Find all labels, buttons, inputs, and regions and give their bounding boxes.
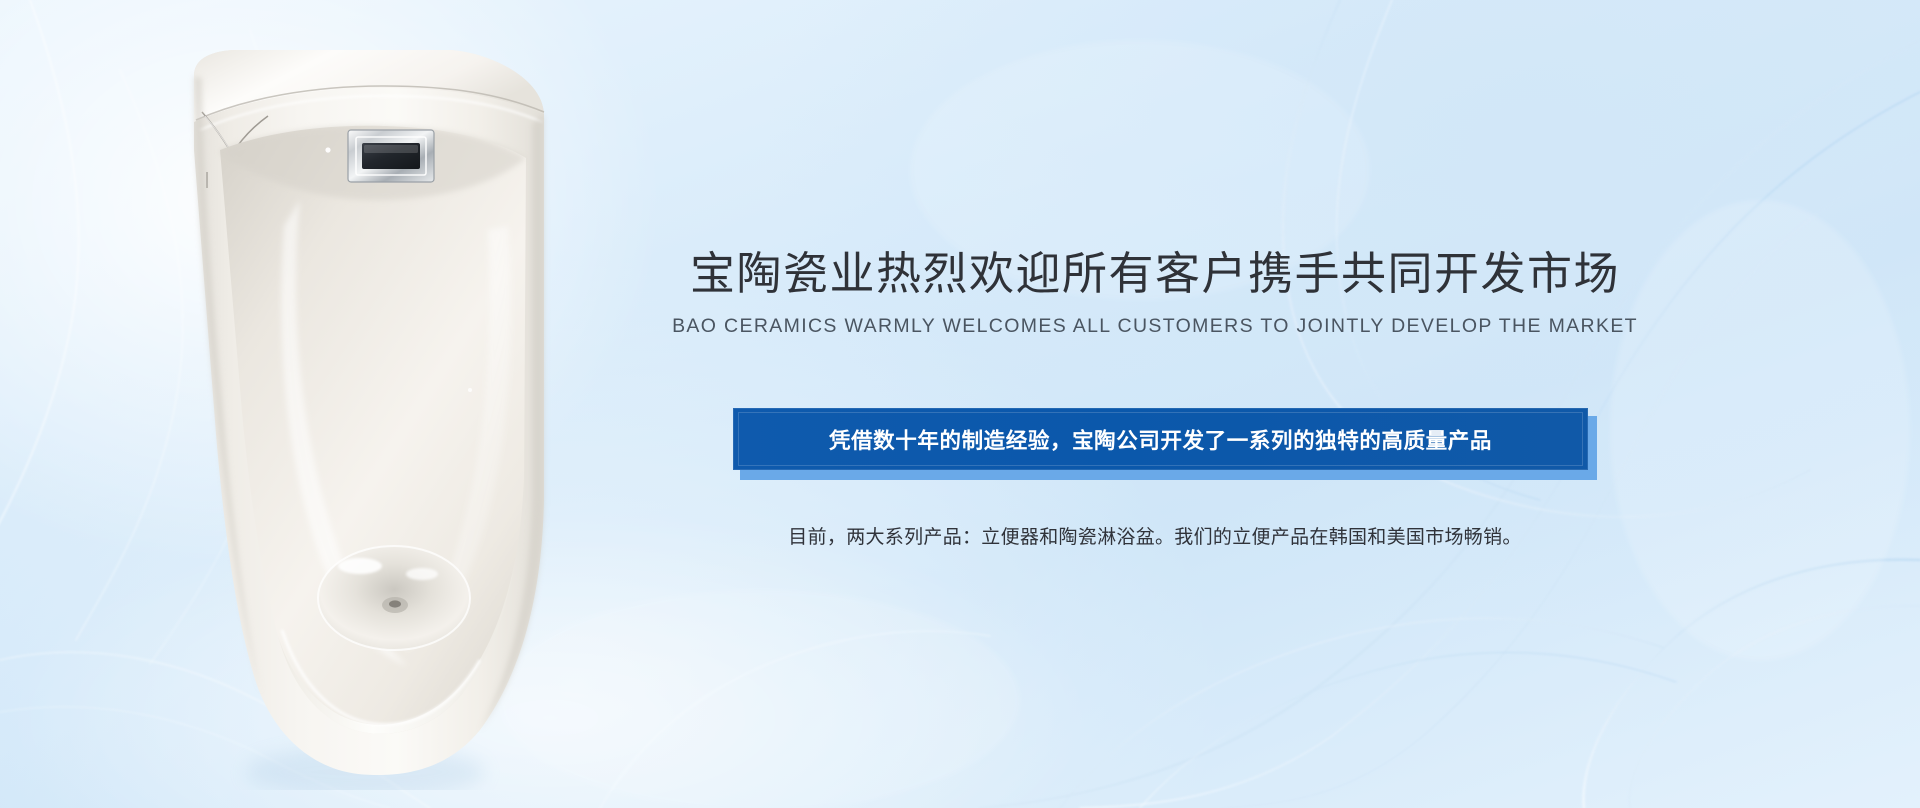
page-subtitle: BAO CERAMICS WARMLY WELCOMES ALL CUSTOME… (600, 315, 1710, 338)
hero-banner: 宝陶瓷业热烈欢迎所有客户携手共同开发市场 BAO CERAMICS WARMLY… (0, 0, 1920, 808)
chrome-sensor-icon (348, 130, 434, 182)
drain-grate-icon (382, 597, 408, 613)
highlight-banner-text: 凭借数十年的制造经验，宝陶公司开发了一系列的独特的高质量产品 (829, 424, 1492, 455)
highlight-banner-body: 凭借数十年的制造经验，宝陶公司开发了一系列的独特的高质量产品 (733, 408, 1588, 470)
highlight-banner: 凭借数十年的制造经验，宝陶公司开发了一系列的独特的高质量产品 (733, 408, 1597, 480)
hero-copy: 宝陶瓷业热烈欢迎所有客户携手共同开发市场 BAO CERAMICS WARMLY… (600, 250, 1710, 338)
hero-paragraph: 目前，两大系列产品：立便器和陶瓷淋浴盆。我们的立便产品在韩国和美国市场畅销。 (600, 524, 1710, 553)
product-image-urinal (150, 30, 580, 790)
page-title: 宝陶瓷业热烈欢迎所有客户携手共同开发市场 (600, 250, 1710, 297)
